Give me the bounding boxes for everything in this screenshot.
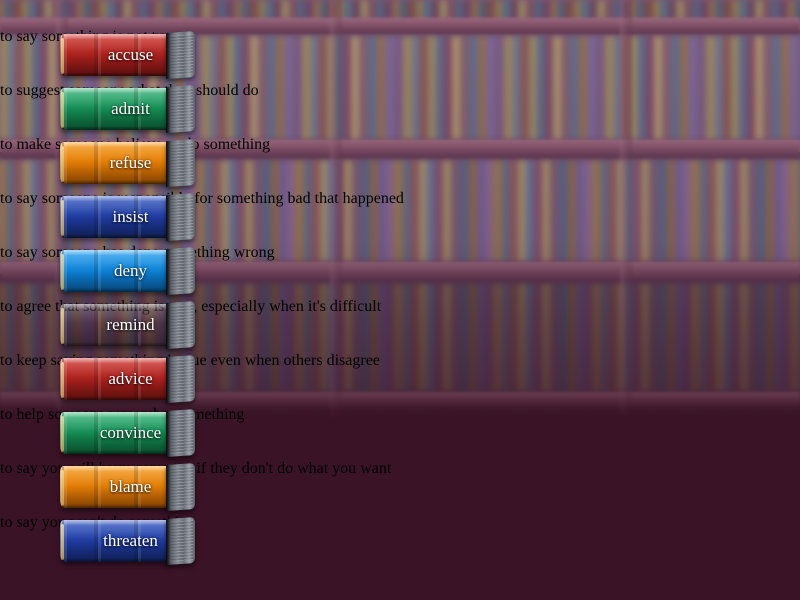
word-tile-admit[interactable]: admit	[60, 86, 195, 132]
match-row: remind to agree that something is true, …	[0, 298, 800, 352]
match-row: insist to say someone is responsible for…	[0, 190, 800, 244]
word-tile-label: admit	[60, 86, 195, 132]
match-row: deny to say someone has done something w…	[0, 244, 800, 298]
word-tile-advice[interactable]: advice	[60, 356, 195, 402]
word-tile-remind[interactable]: remind	[60, 302, 195, 348]
match-row: advice to keep saying something is true …	[0, 352, 800, 406]
match-row: refuse to make someone believe or do som…	[0, 136, 800, 190]
match-up-game-stage: accuse to say something is not true admi…	[0, 0, 800, 600]
word-tile-label: blame	[60, 464, 195, 510]
word-tile-convince[interactable]: convince	[60, 410, 195, 456]
word-tile-label: remind	[60, 302, 195, 348]
word-tile-label: deny	[60, 248, 195, 294]
word-tile-deny[interactable]: deny	[60, 248, 195, 294]
match-row: accuse to say something is not true	[0, 28, 800, 82]
word-tile-insist[interactable]: insist	[60, 194, 195, 240]
word-tile-label: insist	[60, 194, 195, 240]
word-tile-label: accuse	[60, 32, 195, 78]
word-tile-refuse[interactable]: refuse	[60, 140, 195, 186]
word-tile-blame[interactable]: blame	[60, 464, 195, 510]
word-tile-label: convince	[60, 410, 195, 456]
match-row: convince to help someone remember someth…	[0, 406, 800, 460]
word-tile-threaten[interactable]: threaten	[60, 518, 195, 564]
word-tile-label: refuse	[60, 140, 195, 186]
match-row: blame to say you will harm someone if th…	[0, 460, 800, 514]
word-tile-accuse[interactable]: accuse	[60, 32, 195, 78]
word-tile-label: threaten	[60, 518, 195, 564]
word-tile-label: advice	[60, 356, 195, 402]
match-row: threaten to say you won't do something	[0, 514, 800, 568]
match-row: admit to suggest someone what they shoul…	[0, 82, 800, 136]
